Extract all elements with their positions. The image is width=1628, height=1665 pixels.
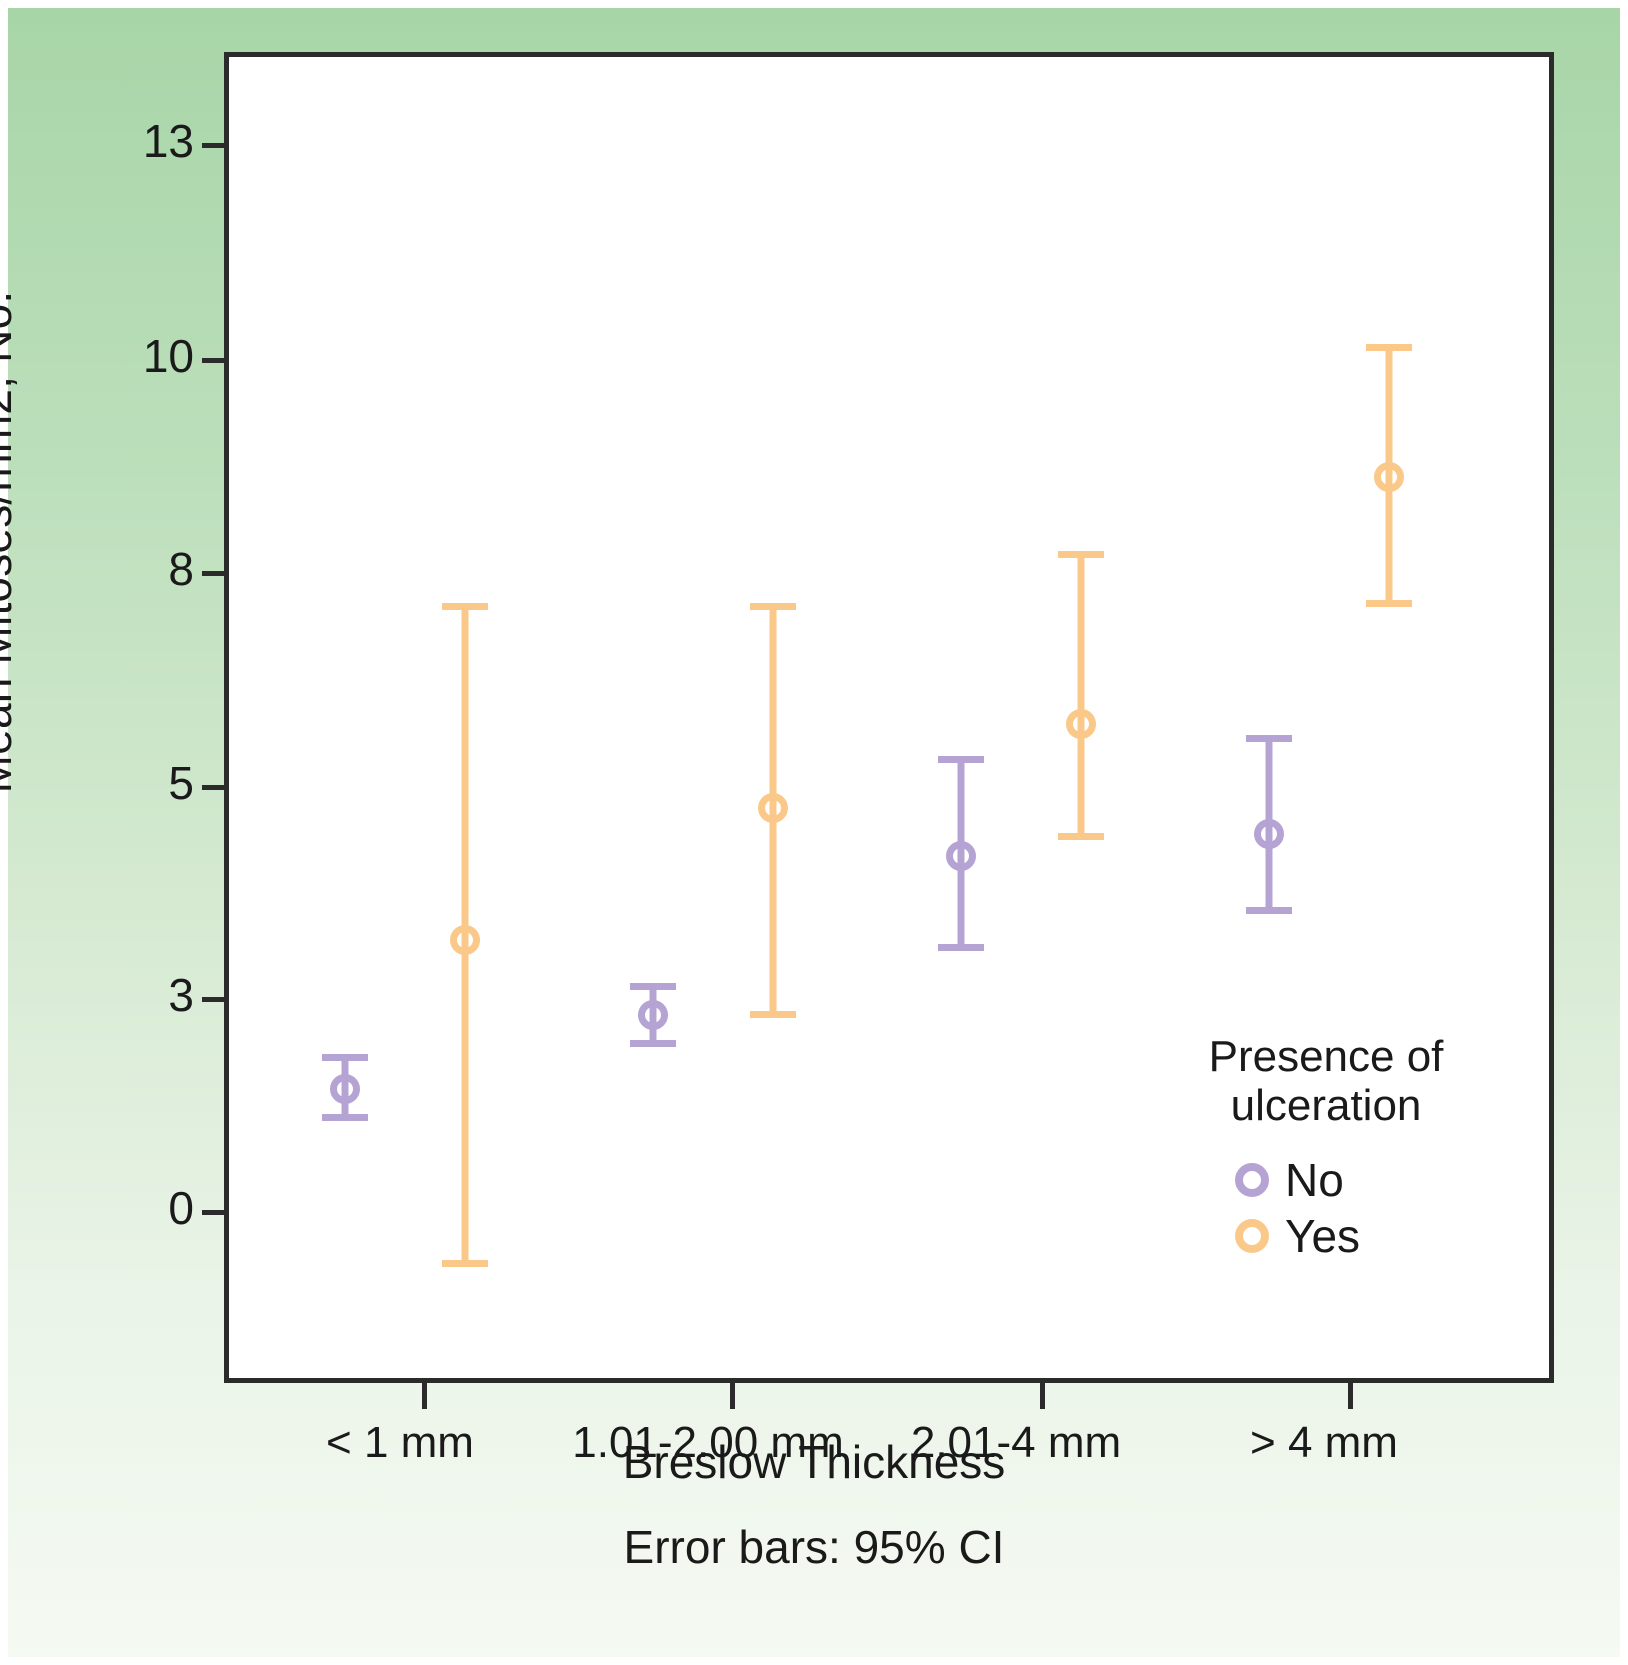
error-bar-cap-upper <box>1058 551 1104 558</box>
x-tick-mark <box>730 1383 735 1409</box>
legend: Presence of ulceration NoYes <box>1161 1032 1491 1259</box>
error-bar-cap-lower <box>1246 907 1292 914</box>
error-bar-cap-lower <box>322 1114 368 1121</box>
data-point-marker[interactable] <box>638 1000 668 1030</box>
plot-area: Presence of ulceration NoYes <box>224 52 1554 1383</box>
legend-title: Presence of ulceration <box>1161 1032 1491 1131</box>
y-tick-label: 3 <box>74 968 194 1022</box>
error-bar-no-1 <box>320 1054 370 1121</box>
error-bar-cap-upper <box>750 603 796 610</box>
error-bar-no-3 <box>936 756 986 951</box>
error-bar-cap-lower <box>442 1260 488 1267</box>
error-bar-stem <box>1078 551 1085 839</box>
error-bar-cap-upper <box>630 983 676 990</box>
data-point-marker[interactable] <box>330 1074 360 1104</box>
error-bar-cap-upper <box>1366 344 1412 351</box>
error-bar-cap-lower <box>1058 833 1104 840</box>
data-point-marker[interactable] <box>1374 462 1404 492</box>
error-bar-cap-upper <box>1246 735 1292 742</box>
x-axis-title: Breslow Thickness <box>0 1435 1628 1489</box>
error-bar-yes-4 <box>1364 344 1414 607</box>
error-bar-yes-3 <box>1056 551 1106 839</box>
error-bar-cap-lower <box>938 944 984 951</box>
legend-title-line2: ulceration <box>1161 1081 1491 1130</box>
legend-title-line1: Presence of <box>1161 1032 1491 1081</box>
legend-item-label: Yes <box>1285 1213 1360 1259</box>
error-bar-cap-lower <box>1366 600 1412 607</box>
x-tick-mark <box>1348 1383 1353 1409</box>
legend-marker-icon <box>1235 1163 1269 1197</box>
x-tick-mark <box>422 1383 427 1409</box>
error-bar-cap-lower <box>750 1011 796 1018</box>
error-bar-yes-2 <box>748 603 798 1018</box>
data-point-marker[interactable] <box>1254 819 1284 849</box>
error-bar-cap-upper <box>442 603 488 610</box>
legend-marker-icon <box>1235 1219 1269 1253</box>
y-tick-label: 13 <box>74 114 194 168</box>
error-bar-cap-lower <box>630 1040 676 1047</box>
legend-item-label: No <box>1285 1157 1344 1203</box>
data-point-marker[interactable] <box>1066 709 1096 739</box>
error-bar-no-4 <box>1244 735 1294 914</box>
data-point-marker[interactable] <box>450 925 480 955</box>
legend-item-yes[interactable]: Yes <box>1161 1213 1491 1259</box>
y-tick-label: 0 <box>74 1181 194 1235</box>
legend-items: NoYes <box>1161 1157 1491 1259</box>
x-tick-mark <box>1040 1383 1045 1409</box>
y-tick-label: 10 <box>74 329 194 383</box>
data-point-marker[interactable] <box>758 793 788 823</box>
error-bar-no-2 <box>628 983 678 1047</box>
legend-item-no[interactable]: No <box>1161 1157 1491 1203</box>
data-point-marker[interactable] <box>946 841 976 871</box>
error-bar-cap-upper <box>322 1054 368 1061</box>
y-tick-label: 5 <box>74 756 194 810</box>
y-tick-label: 8 <box>74 542 194 596</box>
error-bar-yes-1 <box>440 603 490 1267</box>
error-bar-note: Error bars: 95% CI <box>0 1520 1628 1574</box>
figure-container: Mean Mitoses/mm2, No. 13108530 Presence … <box>0 0 1628 1665</box>
y-axis-title: Mean Mitoses/mm2, No. <box>0 42 22 1042</box>
error-bar-cap-upper <box>938 756 984 763</box>
